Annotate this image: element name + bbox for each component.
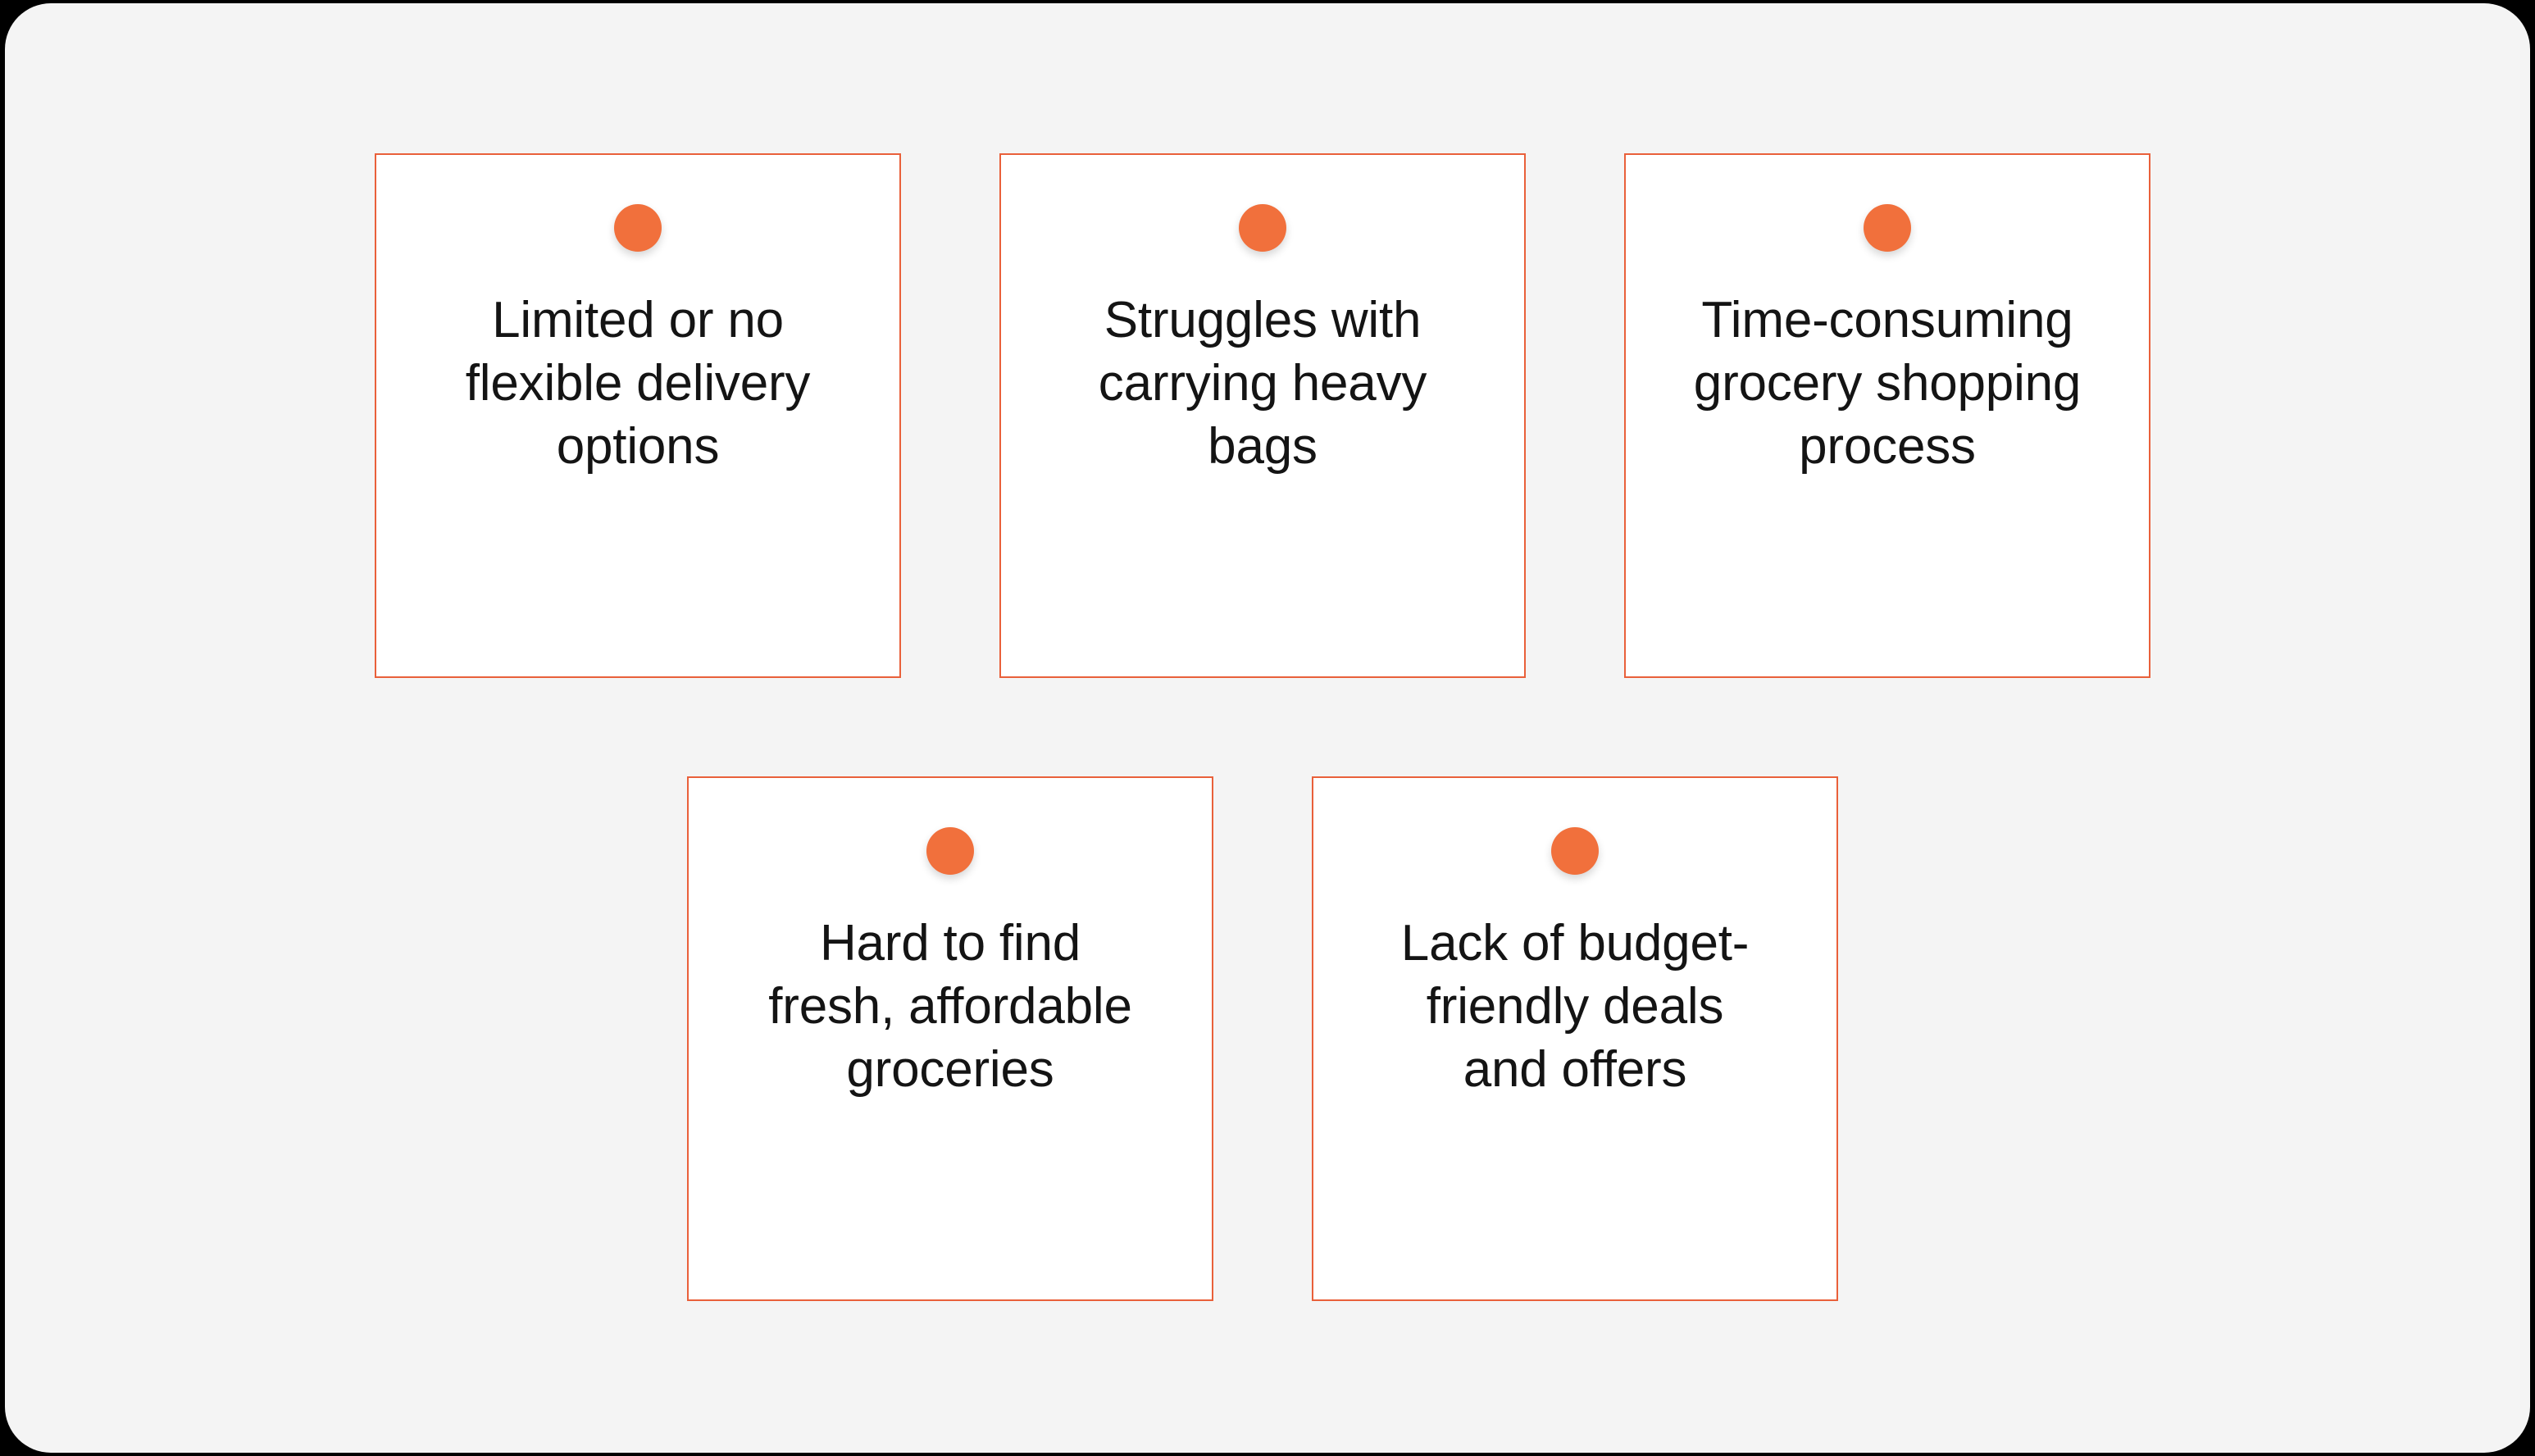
pain-point-label: Time-consuming grocery shopping process <box>1666 289 2109 478</box>
pain-point-label: Lack of budget- friendly deals and offer… <box>1354 912 1796 1101</box>
pain-point-card-1[interactable]: Limited or no flexible delivery options <box>375 153 901 678</box>
pain-point-card-5[interactable]: Lack of budget- friendly deals and offer… <box>1312 776 1838 1301</box>
orange-dot-icon <box>1551 827 1599 875</box>
pain-points-board: Limited or no flexible delivery options … <box>5 3 2530 1453</box>
pain-point-label: Struggles with carrying heavy bags <box>1041 289 1484 478</box>
orange-dot-icon <box>614 204 662 252</box>
card-row-bottom: Hard to find fresh, affordable groceries… <box>5 776 2525 1301</box>
slide-canvas: Limited or no flexible delivery options … <box>5 3 2530 1453</box>
pain-point-label: Hard to find fresh, affordable groceries <box>729 912 1172 1101</box>
pain-point-card-2[interactable]: Struggles with carrying heavy bags <box>999 153 1526 678</box>
pain-point-label: Limited or no flexible delivery options <box>416 289 859 478</box>
orange-dot-icon <box>926 827 974 875</box>
card-row-top: Limited or no flexible delivery options … <box>5 153 2525 678</box>
orange-dot-icon <box>1239 204 1286 252</box>
pain-point-card-3[interactable]: Time-consuming grocery shopping process <box>1624 153 2150 678</box>
pain-point-card-4[interactable]: Hard to find fresh, affordable groceries <box>687 776 1213 1301</box>
orange-dot-icon <box>1864 204 1911 252</box>
